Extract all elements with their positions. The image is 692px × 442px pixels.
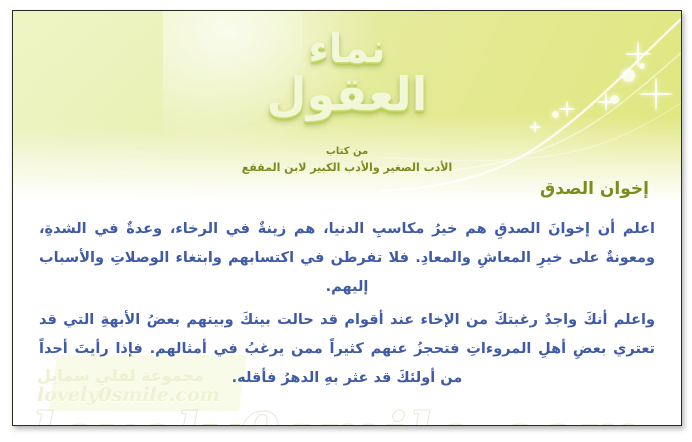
sparkle-dot-icon <box>622 69 635 82</box>
sparkle-icon <box>625 41 651 67</box>
sparkle-icon <box>529 121 541 133</box>
page-root: نماء العقول من كتاب الأدب الصغير والأدب … <box>0 0 692 442</box>
header-glow-highlight <box>163 10 383 151</box>
center-watermark: lovely0smile.com <box>31 399 643 426</box>
paragraph-2: واعلم أنكَ واجدٌ رغبتكَ من الإخاء عند أق… <box>39 306 655 393</box>
sparkle-icon <box>639 77 673 111</box>
sparkle-dot-icon <box>552 111 559 118</box>
paragraph-1: اعلم أن إخوانَ الصدقِ هم خيرُ مكاسبِ الد… <box>39 215 655 302</box>
page-title: إخوان الصدق <box>39 179 649 199</box>
sparkle-icon <box>559 101 575 117</box>
sparkle-icon <box>597 93 615 111</box>
sparkle-dot-icon <box>639 63 645 69</box>
content-card: نماء العقول من كتاب الأدب الصغير والأدب … <box>12 10 682 426</box>
source-label: من كتاب <box>13 146 681 157</box>
article-body: lovely0smile.com إخوان الصدق اعلم أن إخو… <box>13 171 681 425</box>
sparkle-dot-icon <box>610 95 619 104</box>
